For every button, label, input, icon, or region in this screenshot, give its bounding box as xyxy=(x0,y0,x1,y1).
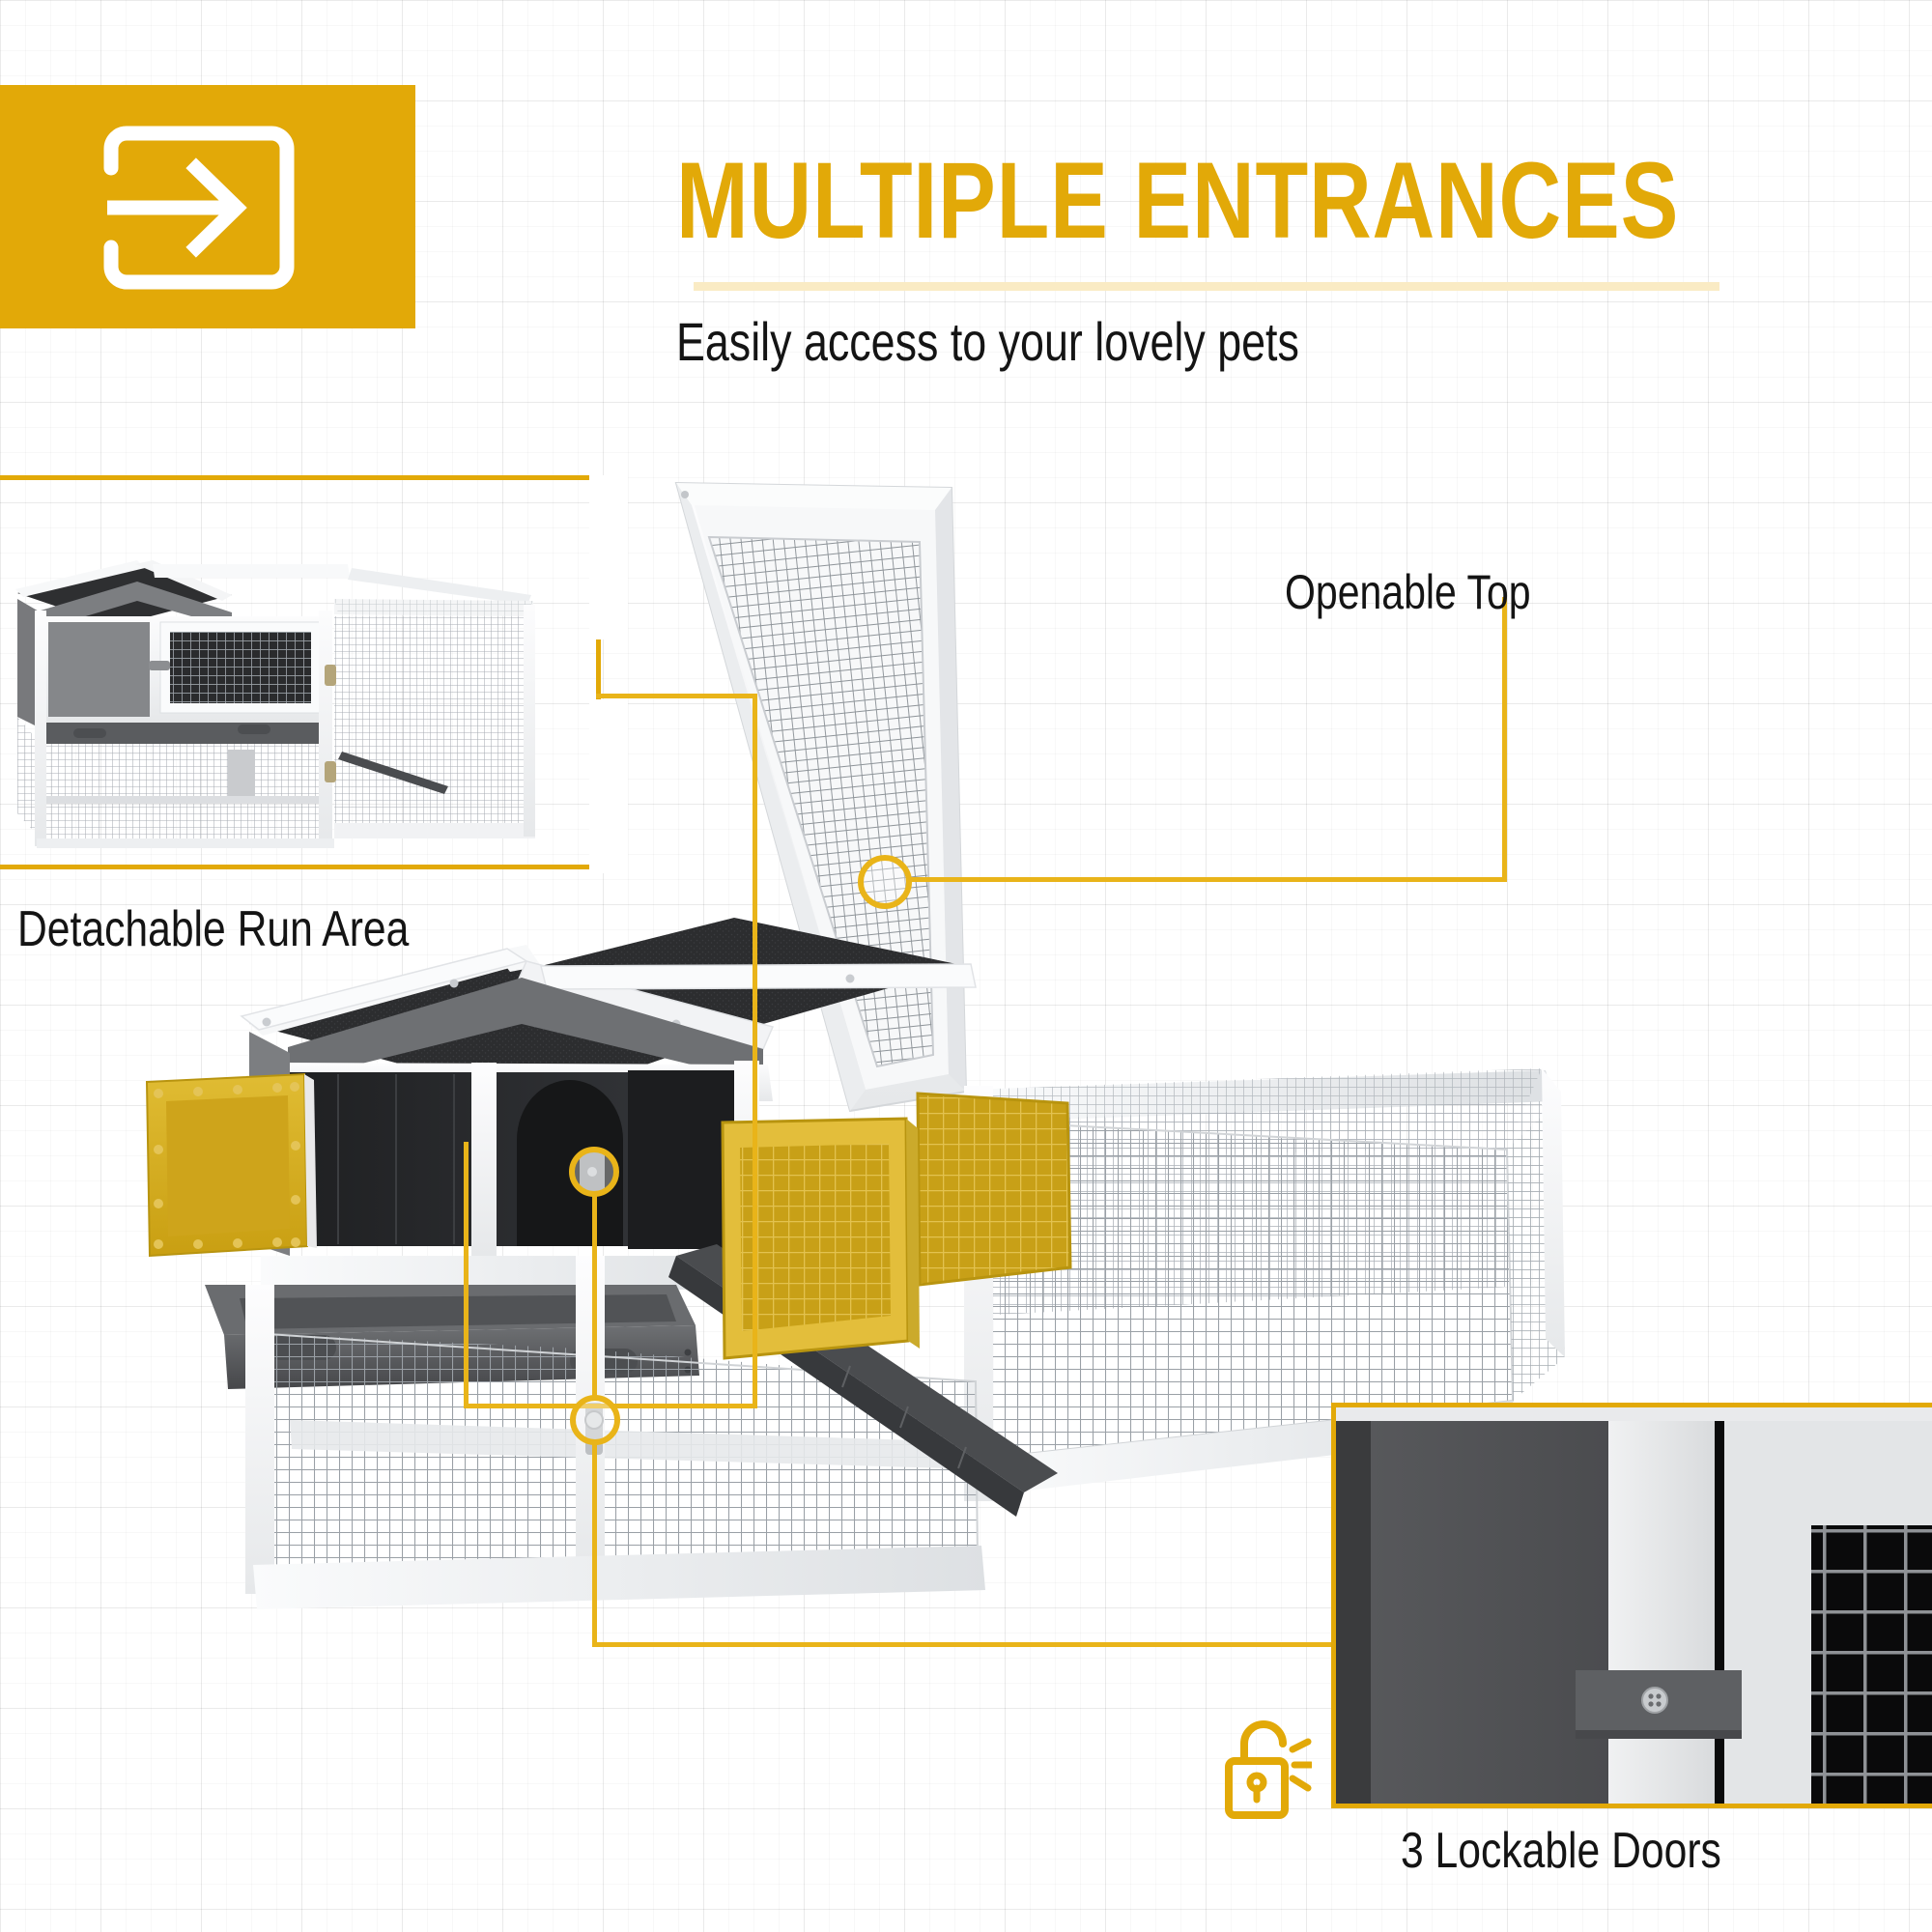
inset-frame-gap-top xyxy=(589,475,628,639)
callout-line-latch-to-lockinset xyxy=(592,1642,1336,1647)
lock-closeup-image xyxy=(1336,1407,1932,1804)
unlock-icon xyxy=(1219,1715,1312,1823)
callout-line-openable-top xyxy=(908,877,1507,882)
callout-label-openable-top: Openable Top xyxy=(1285,568,1531,616)
inset-run-area-frame xyxy=(0,475,601,869)
page-subtitle: Easily access to your lovely pets xyxy=(676,315,1681,369)
enter-arrow-square-icon xyxy=(82,122,314,294)
callout-line-run-a xyxy=(596,694,757,698)
yellow-door-left xyxy=(147,1074,317,1256)
callout-line-latch-link xyxy=(592,1194,597,1399)
callout-dot-latch-lower xyxy=(570,1395,620,1445)
page-title: MULTIPLE ENTRANCES xyxy=(676,147,1681,255)
callout-line-run-d xyxy=(464,1142,469,1408)
title-underline-rule xyxy=(694,282,1719,291)
callout-line-run-b xyxy=(753,694,757,1408)
callout-dot-openable-top xyxy=(858,855,912,909)
inset-lock-detail xyxy=(1331,1403,1932,1808)
callout-line-latch-down xyxy=(592,1443,597,1646)
callout-line-openable-top-riser xyxy=(1502,597,1507,882)
callout-dot-latch-upper xyxy=(569,1147,619,1197)
callout-label-lockable-doors: 3 Lockable Doors xyxy=(1401,1826,1721,1876)
inset-frame-gap-bottom xyxy=(589,699,628,873)
header-icon-tile xyxy=(0,85,415,328)
callout-label-detachable-run: Detachable Run Area xyxy=(17,904,409,954)
